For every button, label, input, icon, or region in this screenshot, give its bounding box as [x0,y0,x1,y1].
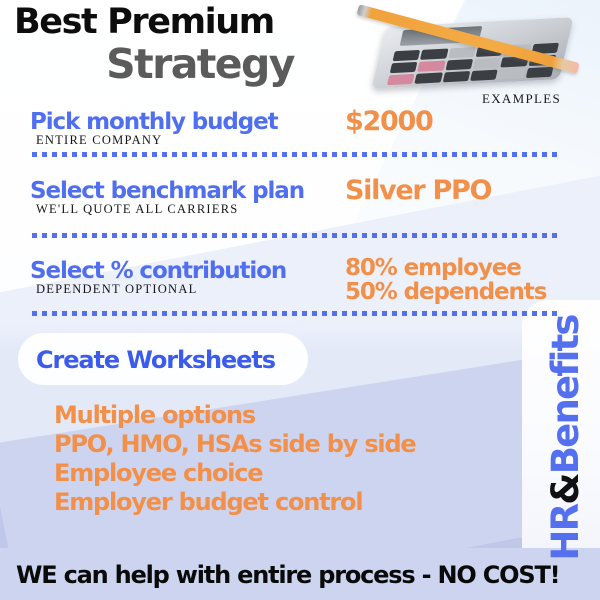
step-subtitle: WE'LL QUOTE ALL CARRIERS [36,202,239,217]
step-value-secondary: 50% dependents [345,280,546,304]
brand-logo: HR&Benefits [540,322,592,554]
step-subtitle: ENTIRE COMPANY [36,133,162,148]
divider-3 [32,311,562,316]
list-item: Multiple options [54,401,416,430]
step-subtitle: DEPENDENT OPTIONAL [36,282,198,297]
brand-part-benefits: Benefits [544,315,587,474]
step-heading: Pick monthly budget [30,109,278,135]
list-item: PPO, HMO, HSAs side by side [54,430,416,459]
calculator-photo [352,2,590,88]
brand-logo-text: HR&Benefits [546,315,586,560]
list-item: Employer budget control [54,488,416,517]
divider-1 [32,152,562,157]
worksheet-benefits-list: Multiple options PPO, HMO, HSAs side by … [54,401,416,517]
list-item: Employee choice [54,459,416,488]
step-value: Silver PPO [345,178,491,204]
step-value: $2000 [345,109,432,135]
brand-part-hr: HR [544,505,587,561]
poster-root: Best Premium Strategy EXAMPLES Pick mont… [0,0,600,600]
step-heading: Select benchmark plan [30,178,304,204]
create-worksheets-label: Create Worksheets [36,346,275,374]
page-title: Best Premium Strategy [14,2,344,86]
footer-callout: WE can help with entire process - NO COS… [16,561,559,589]
step-value: 80% employee [345,256,521,280]
divider-2 [32,233,562,238]
title-line-2: Strategy [14,42,344,86]
examples-label: EXAMPLES [482,91,561,107]
step-heading: Select % contribution [30,258,286,284]
brand-part-ampersand: & [544,474,587,504]
title-line-1: Best Premium [14,2,344,42]
